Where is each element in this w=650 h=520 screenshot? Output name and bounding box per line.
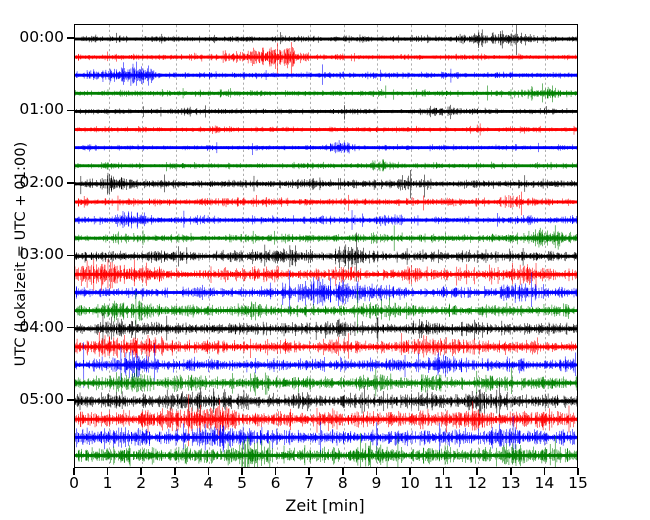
y-tick-mark xyxy=(67,37,74,39)
x-axis-title: Zeit [min] xyxy=(0,496,650,515)
y-tick-label: 05:00 xyxy=(19,392,64,408)
seismogram-traces-canvas xyxy=(75,25,578,468)
y-tick-label: 04:00 xyxy=(19,320,64,336)
plot-area xyxy=(74,24,578,468)
y-tick-mark xyxy=(67,399,74,401)
seismogram-figure: UTC (Lokalzeit = UTC + 01:00) 00:0001:00… xyxy=(0,0,650,520)
y-tick-mark xyxy=(67,255,74,257)
y-tick-label: 00:00 xyxy=(19,30,64,46)
y-tick-mark xyxy=(67,110,74,112)
y-tick-label: 01:00 xyxy=(19,102,64,118)
x-tick-label: 15 xyxy=(558,476,598,492)
y-tick-label: 02:00 xyxy=(19,175,64,191)
y-tick-label: 03:00 xyxy=(19,247,64,263)
y-tick-mark xyxy=(67,327,74,329)
y-tick-mark xyxy=(67,182,74,184)
